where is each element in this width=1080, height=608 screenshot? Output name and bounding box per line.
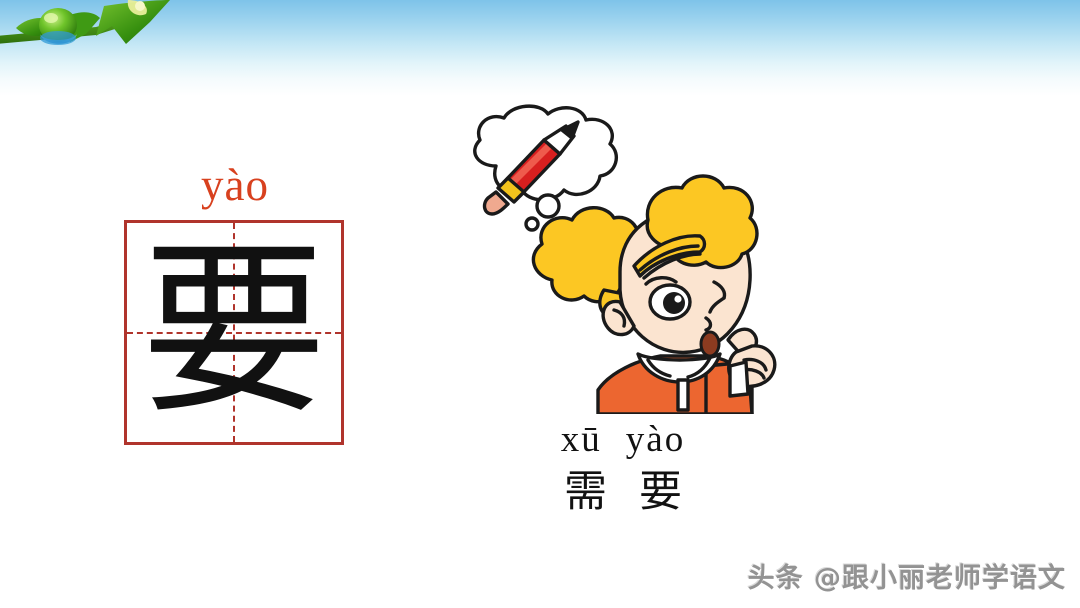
tian-zi-ge-grid: 要 — [124, 220, 344, 445]
word-hanzi-2: 要 — [639, 466, 682, 518]
character-card: yào 要 — [124, 158, 346, 445]
vocabulary-word: xūyào 需要 — [448, 418, 798, 518]
character-pinyin: yào — [124, 158, 346, 212]
word-pinyin-row: xūyào — [448, 418, 798, 462]
watermark-text: 头条 @跟小丽老师学语文 — [748, 562, 1066, 596]
word-hanzi-row: 需要 — [448, 466, 798, 518]
girl-hair-top — [634, 176, 757, 278]
word-hanzi-1: 需 — [564, 466, 607, 518]
vine-decoration — [0, 0, 200, 62]
vine-icon — [0, 0, 200, 62]
illustration-thinking-girl — [448, 104, 798, 414]
target-character: 要 — [127, 223, 341, 442]
word-pinyin-syllable-1: xū — [561, 418, 602, 462]
word-pinyin-syllable-2: yào — [626, 418, 685, 462]
girl-hand — [728, 329, 775, 396]
thinking-girl-illustration — [448, 104, 798, 414]
slide-canvas: yào 要 — [0, 0, 1080, 608]
